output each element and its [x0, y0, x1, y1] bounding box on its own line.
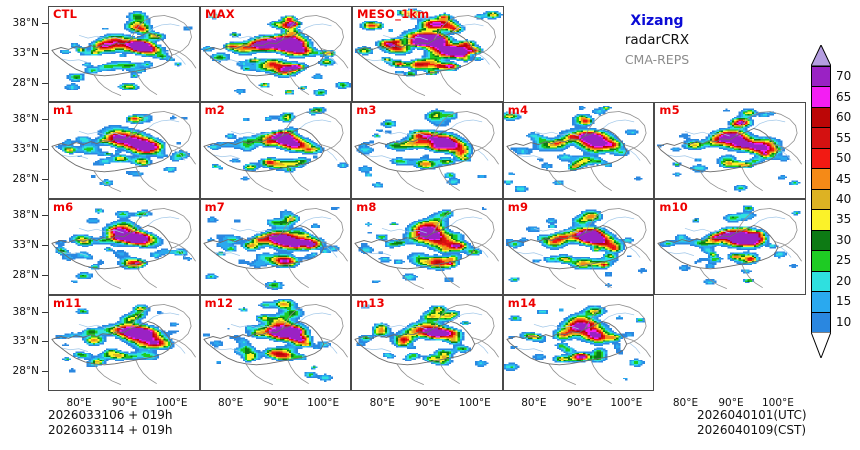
y-tick-label: 28°N [13, 269, 39, 281]
colorbar-tick-label: 45 [836, 172, 851, 186]
panel-label: CTL [53, 8, 77, 21]
y-tick-label: 38°N [13, 17, 39, 29]
colorbar-tick-label: 70 [836, 69, 851, 83]
panel-row-4: m11m12m13m14 [48, 295, 806, 391]
colorbar-segment [811, 107, 831, 127]
colorbar-tick-label: 50 [836, 151, 851, 165]
y-tick-label: 28°N [13, 365, 39, 377]
x-tick-label: 90°E [264, 397, 289, 409]
colorbar-tick-label: 30 [836, 233, 851, 247]
colorbar-segment [811, 148, 831, 168]
y-tick-label: 28°N [13, 173, 39, 185]
colorbar-segment [811, 250, 831, 270]
panel-empty [654, 295, 806, 391]
colorbar-segment [811, 312, 831, 332]
colorbar-tick-label: 20 [836, 274, 851, 288]
panel-m14: m14 [503, 295, 655, 391]
x-tick-label: 100°E [610, 397, 642, 409]
x-tick-label: 90°E [567, 397, 592, 409]
panel-m4: m4 [503, 102, 655, 198]
panel-m5: m5 [654, 102, 806, 198]
y-tick-label: 38°N [13, 209, 39, 221]
colorbar-segment [811, 230, 831, 250]
colorbar-segment [811, 291, 831, 311]
colorbar-tick-label: 15 [836, 294, 851, 308]
y-tick-label: 38°N [13, 306, 39, 318]
y-tick-label: 33°N [13, 143, 39, 155]
panel-max: MAX [200, 6, 352, 102]
panel-label: m3 [356, 104, 376, 117]
panel-label: m9 [508, 201, 528, 214]
colorbar-segment [811, 271, 831, 291]
colorbar-over-cap [811, 45, 831, 66]
panel-m12: m12 [200, 295, 352, 391]
panel-m2: m2 [200, 102, 352, 198]
y-tick-label: 33°N [13, 335, 39, 347]
y-tick-label: 28°N [13, 77, 39, 89]
colorbar-tick-label: 40 [836, 192, 851, 206]
colorbar-under-cap [811, 332, 831, 358]
title-region: Xizang [512, 12, 802, 31]
panel-m9: m9 [503, 199, 655, 295]
footer-valid-cst: 2026040109(CST) [697, 423, 807, 438]
colorbar-tick-label: 65 [836, 90, 851, 104]
colorbar-tick-label: 60 [836, 110, 851, 124]
panel-m7: m7 [200, 199, 352, 295]
panel-label: m7 [205, 201, 225, 214]
footer-init-time-1: 2026033106 + 019h [48, 408, 173, 423]
x-tick-label: 100°E [307, 397, 339, 409]
panel-label: m4 [508, 104, 528, 117]
panel-m6: m6 [48, 199, 200, 295]
panel-label: MAX [205, 8, 235, 21]
colorbar-segment [811, 86, 831, 106]
panel-row-2: m1m2m3m4m5 [48, 102, 806, 198]
y-tick-label: 38°N [13, 113, 39, 125]
colorbar-segment [811, 168, 831, 188]
colorbar-segment [811, 209, 831, 229]
colorbar-segment [811, 66, 831, 86]
panel-label: m12 [205, 297, 234, 310]
x-tick-label: 100°E [459, 397, 491, 409]
title-model: CMA-REPS [512, 50, 802, 69]
panel-m8: m8 [351, 199, 503, 295]
colorbar-tick-label: 25 [836, 253, 851, 267]
panel-label: m2 [205, 104, 225, 117]
panel-row-3: m6m7m8m9m10 [48, 199, 806, 295]
panel-label: m13 [356, 297, 385, 310]
panel-m13: m13 [351, 295, 503, 391]
x-tick-label: 80°E [370, 397, 395, 409]
footer-right: 2026040101(UTC) 2026040109(CST) [697, 408, 807, 438]
y-tick-label: 33°N [13, 47, 39, 59]
footer-left: 2026033106 + 019h 2026033114 + 019h [48, 408, 173, 438]
panel-m11: m11 [48, 295, 200, 391]
title-variable: radarCRX [512, 31, 802, 50]
panel-ctl: CTL [48, 6, 200, 102]
y-tick-label: 33°N [13, 239, 39, 251]
panel-meso-1km: MESO_1km [352, 6, 504, 102]
colorbar-segment [811, 189, 831, 209]
x-tick-label: 90°E [415, 397, 440, 409]
colorbar-tick-label: 10 [836, 315, 851, 329]
footer-init-time-2: 2026033114 + 019h [48, 423, 173, 438]
x-tick-label: 80°E [521, 397, 546, 409]
panel-label: m1 [53, 104, 73, 117]
panel-m1: m1 [48, 102, 200, 198]
colorbar-tick-label: 35 [836, 212, 851, 226]
panel-m3: m3 [351, 102, 503, 198]
colorbar-tick-label: 55 [836, 131, 851, 145]
colorbar: 70656055504540353025201510 [811, 66, 831, 332]
colorbar-segment [811, 127, 831, 147]
panel-m10: m10 [654, 199, 806, 295]
panel-label: m8 [356, 201, 376, 214]
footer-valid-utc: 2026040101(UTC) [697, 408, 807, 423]
panel-label: m5 [659, 104, 679, 117]
panel-label: m14 [508, 297, 537, 310]
panel-label: m10 [659, 201, 688, 214]
title-block: Xizang radarCRX CMA-REPS [512, 12, 802, 69]
panel-label: MESO_1km [357, 8, 429, 21]
panel-label: m6 [53, 201, 73, 214]
panel-label: m11 [53, 297, 82, 310]
x-tick-label: 80°E [673, 397, 698, 409]
x-tick-label: 80°E [218, 397, 243, 409]
